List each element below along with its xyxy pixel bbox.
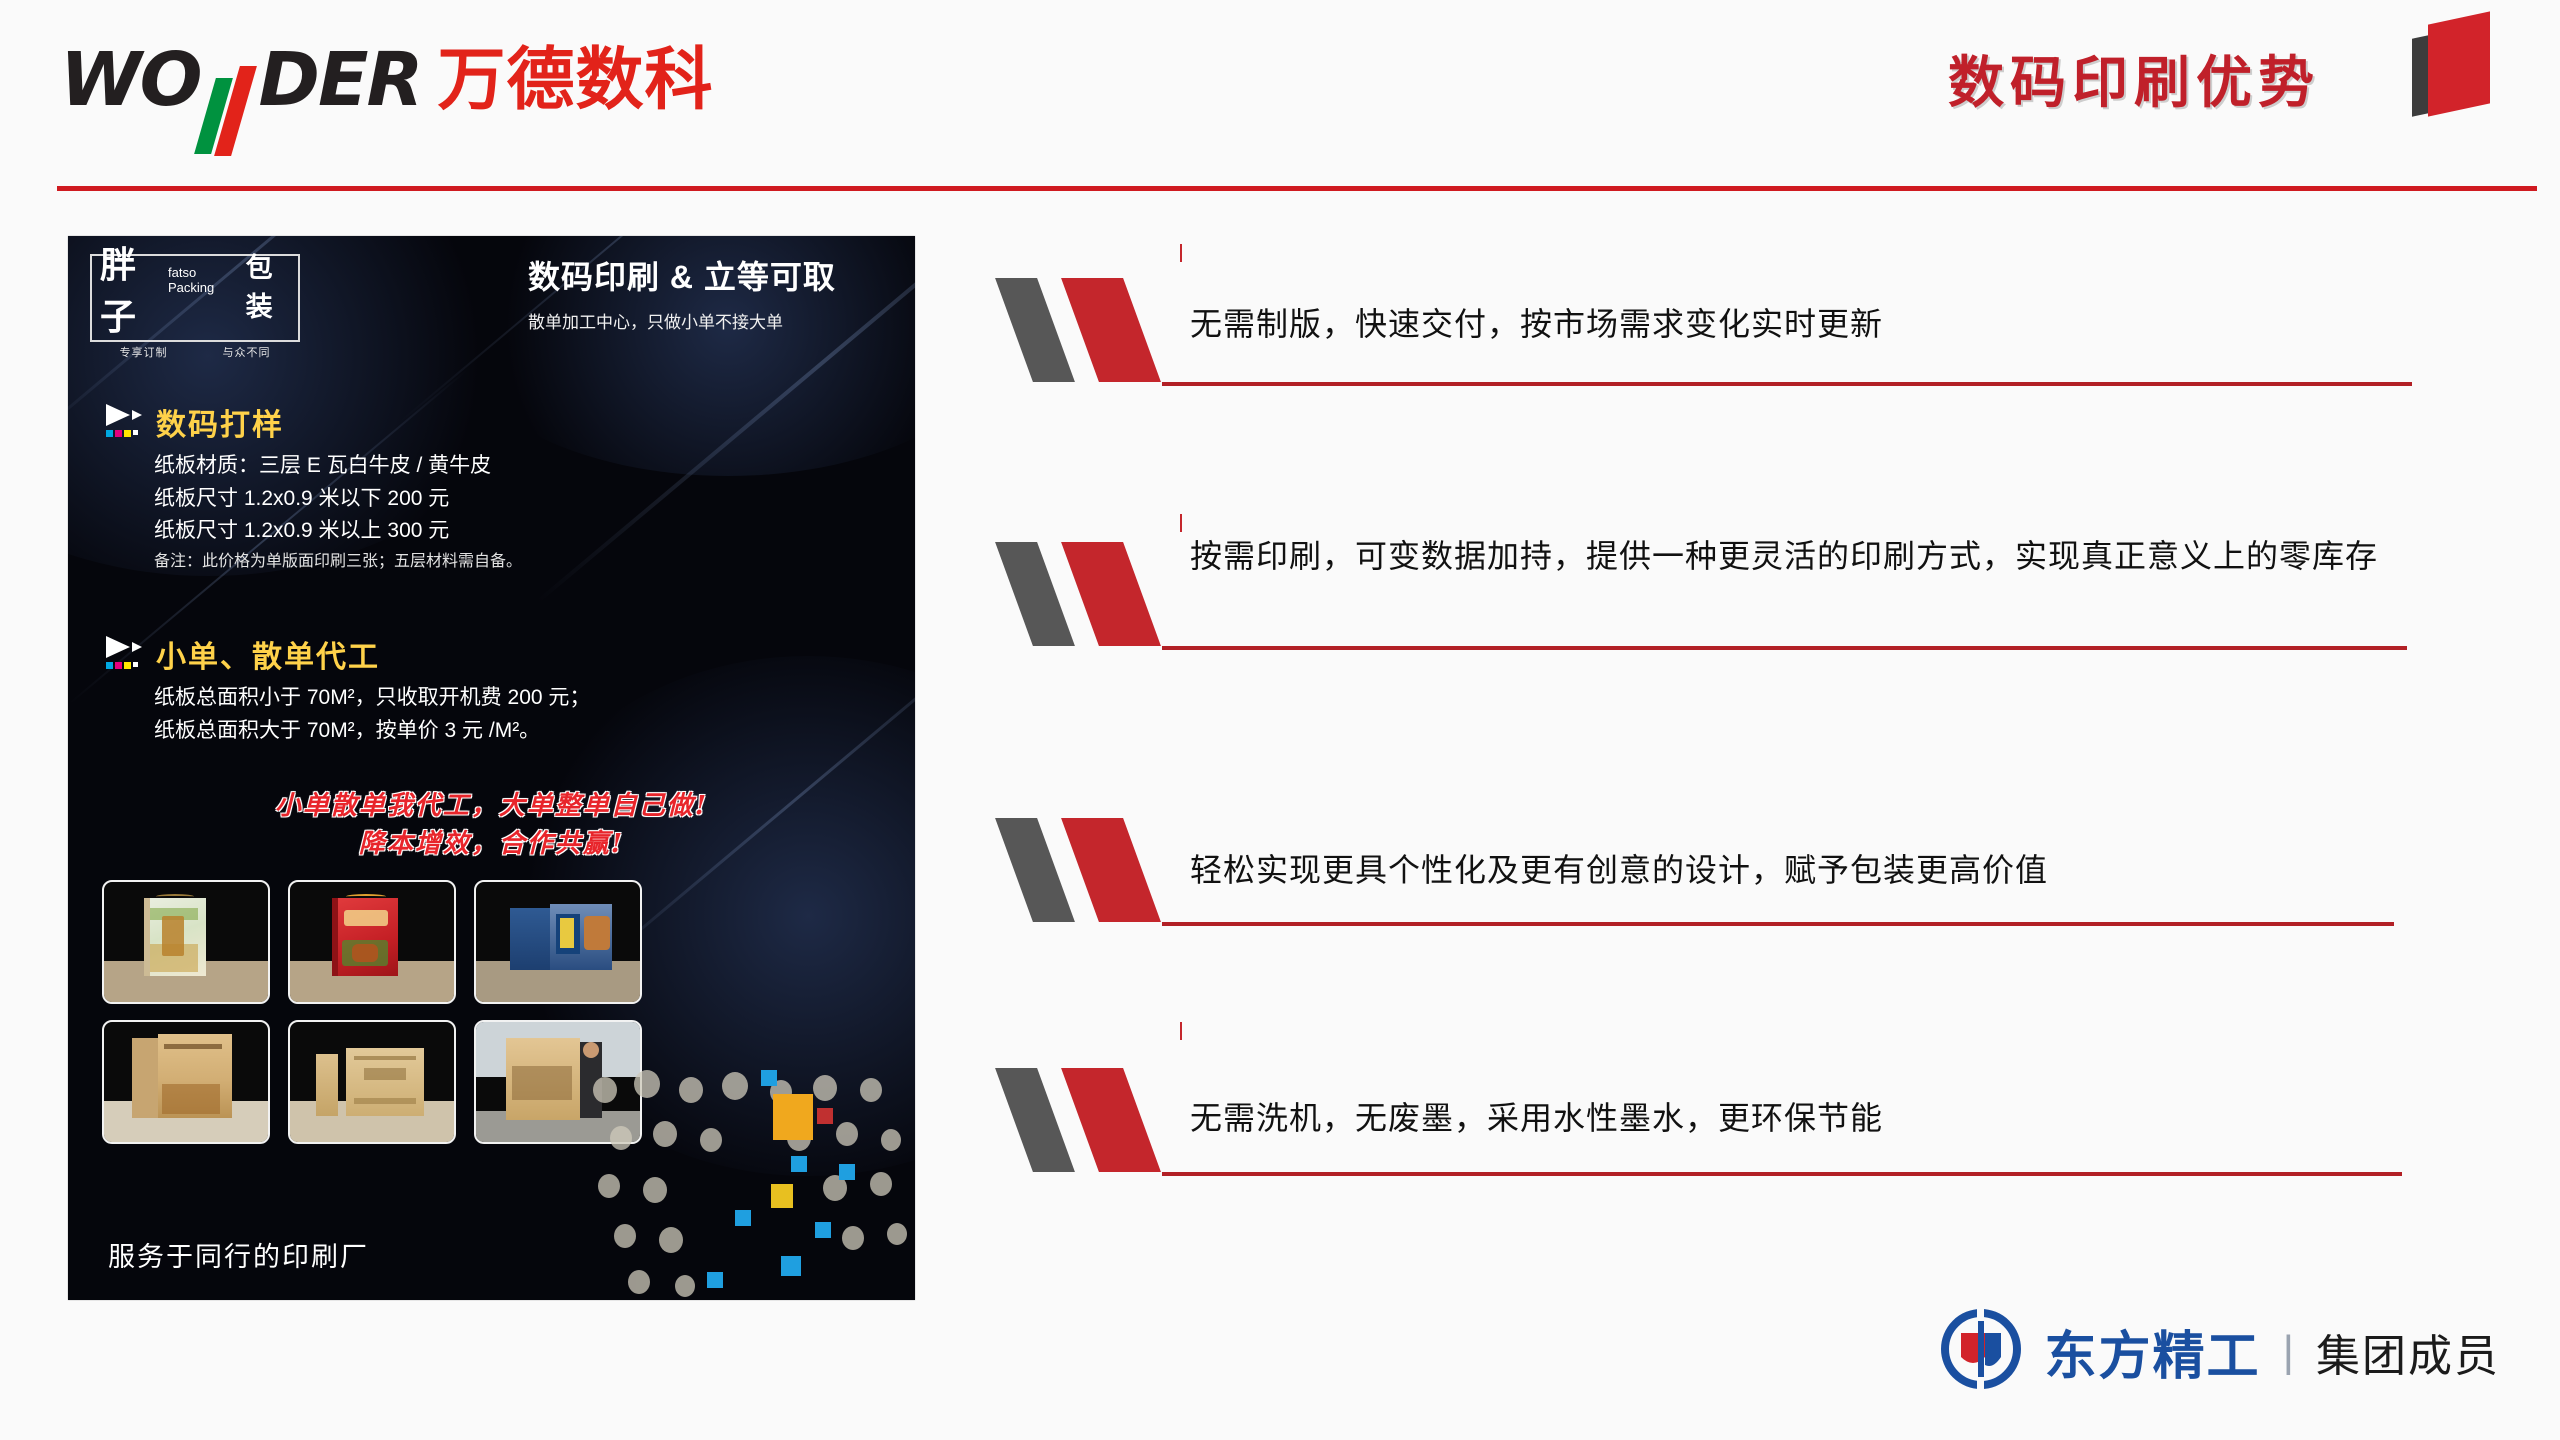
chevron-cmyk-icon (104, 402, 146, 442)
footer-company-name: 东方精工 (2045, 1314, 2261, 1389)
corner-decoration-red-shape (2428, 11, 2490, 116)
brand-wordmark-part1: WO (60, 43, 201, 117)
poster-headline-group: 数码印刷 & 立等可取 散单加工中心，只做小单不接大单 (528, 252, 836, 333)
chevron-cmyk-icon (104, 634, 146, 674)
tick-mark (1180, 1022, 1182, 1040)
dot-pattern-decoration (585, 1060, 915, 1300)
dfjg-emblem-icon (1939, 1307, 2023, 1396)
poster-subheadline: 散单加工中心，只做小单不接大单 (528, 308, 836, 333)
photo-row (102, 880, 882, 1004)
product-photo-beef-pie-box (474, 880, 642, 1004)
advantage-item-2: 按需印刷，可变数据加持，提供一种更灵活的印刷方式，实现真正意义上的零库存 (1010, 500, 2490, 810)
brand-wordmark-part2: DER (259, 43, 422, 117)
footer-logo: 东方精工 | 集团成员 (1939, 1307, 2500, 1396)
brand-wordmark: WO DER (60, 43, 422, 117)
footer-divider: | (2283, 1327, 2294, 1377)
advantage-text: 无需制版，快速交付，按市场需求变化实时更新 (1190, 256, 2490, 348)
slogan-line: 小单散单我代工，大单整单自己做! (68, 788, 915, 826)
bullet-marker (1010, 542, 1200, 646)
poster-footer-caption: 服务于同行的印刷厂 (108, 1235, 369, 1274)
bullet-marker-gray (995, 818, 1075, 922)
product-photo-classic-boxes (288, 1020, 456, 1144)
advantage-underline (1162, 646, 2407, 650)
product-photo-red-gift-box (288, 880, 456, 1004)
section-title: 数码打样 (156, 400, 284, 444)
page-title: 数码印刷优势 (1948, 38, 2320, 119)
poster-slogan: 小单散单我代工，大单整单自己做! 降本增效，合作共赢! (68, 788, 915, 863)
slogan-line: 降本增效，合作共赢! (68, 826, 915, 864)
section-detail-line: 纸板材质：三层 E 瓦白牛皮 / 黄牛皮 (154, 450, 522, 483)
bullet-marker-gray (995, 542, 1075, 646)
product-photo-kraft-landscape-box (102, 1020, 270, 1144)
advantage-underline (1162, 922, 2394, 926)
poster-section-digital-proofing: 数码打样 纸板材质：三层 E 瓦白牛皮 / 黄牛皮 纸板尺寸 1.2x0.9 米… (104, 400, 522, 574)
fatso-logo-english: fatso Packing (168, 265, 244, 295)
advantages-list: 无需制版，快速交付，按市场需求变化实时更新 按需印刷，可变数据加持，提供一种更灵… (1010, 256, 2490, 1262)
brand-logo: WO DER 万德数科 (60, 40, 714, 120)
bullet-marker (1010, 1068, 1200, 1172)
fatso-logo-tagline-right: 与众不同 (223, 344, 271, 360)
poster-headline: 数码印刷 & 立等可取 (528, 252, 836, 298)
bullet-marker-gray (995, 278, 1075, 382)
fatso-packing-logo: 胖子 fatso Packing 包装 专享订制 与众不同 (90, 254, 300, 342)
fatso-logo-secondary-text: 包装 (246, 246, 298, 324)
bullet-marker-red (1061, 542, 1161, 646)
advantage-text: 无需洗机，无废墨，采用水性墨水，更环保节能 (1190, 1042, 2490, 1142)
advantage-underline (1162, 1172, 2402, 1176)
product-photo-honey-gift-box (102, 880, 270, 1004)
poster-header: 胖子 fatso Packing 包装 专享订制 与众不同 数码印刷 & 立等可… (68, 236, 915, 356)
bullet-marker-gray (995, 1068, 1075, 1172)
tick-mark (1180, 514, 1182, 532)
bullet-marker-red (1061, 278, 1161, 382)
bullet-marker (1010, 818, 1200, 922)
tick-mark (1180, 244, 1182, 262)
fatso-logo-main-text: 胖子 (100, 236, 164, 340)
section-detail-line: 纸板总面积大于 70M²，按单价 3 元 /M²。 (154, 715, 590, 748)
section-detail-line: 纸板尺寸 1.2x0.9 米以上 300 元 (154, 515, 522, 548)
section-detail-line: 纸板尺寸 1.2x0.9 米以下 200 元 (154, 483, 522, 516)
bullet-marker-red (1061, 818, 1161, 922)
section-note: 备注：此价格为单版面印刷三张；五层材料需自备。 (154, 550, 522, 574)
advantage-text: 按需印刷，可变数据加持，提供一种更灵活的印刷方式，实现真正意义上的零库存 (1190, 500, 2380, 580)
promo-poster-image: 胖子 fatso Packing 包装 专享订制 与众不同 数码印刷 & 立等可… (68, 236, 915, 1300)
advantage-item-1: 无需制版，快速交付，按市场需求变化实时更新 (1010, 256, 2490, 500)
advantage-text: 轻松实现更具个性化及更有创意的设计，赋予包装更高价值 (1190, 810, 2490, 894)
bullet-marker (1010, 278, 1200, 382)
advantage-item-4: 无需洗机，无废墨，采用水性墨水，更环保节能 (1010, 1042, 2490, 1262)
brand-chinese-name: 万德数科 (438, 46, 714, 114)
section-detail-line: 纸板总面积小于 70M²，只收取开机费 200 元； (154, 682, 590, 715)
bullet-marker-red (1061, 1068, 1161, 1172)
corner-decoration-icon (2398, 8, 2518, 118)
header-divider (57, 186, 2537, 191)
poster-section-small-order: 小单、散单代工 纸板总面积小于 70M²，只收取开机费 200 元； 纸板总面积… (104, 632, 590, 747)
footer-membership-label: 集团成员 (2316, 1320, 2500, 1384)
slide-root: WO DER 万德数科 数码印刷优势 胖子 fatso Pack (0, 0, 2560, 1440)
section-title: 小单、散单代工 (156, 632, 380, 676)
fatso-logo-tagline-left: 专享订制 (120, 344, 168, 360)
advantage-item-3: 轻松实现更具个性化及更有创意的设计，赋予包装更高价值 (1010, 810, 2490, 1042)
advantage-underline (1162, 382, 2412, 386)
